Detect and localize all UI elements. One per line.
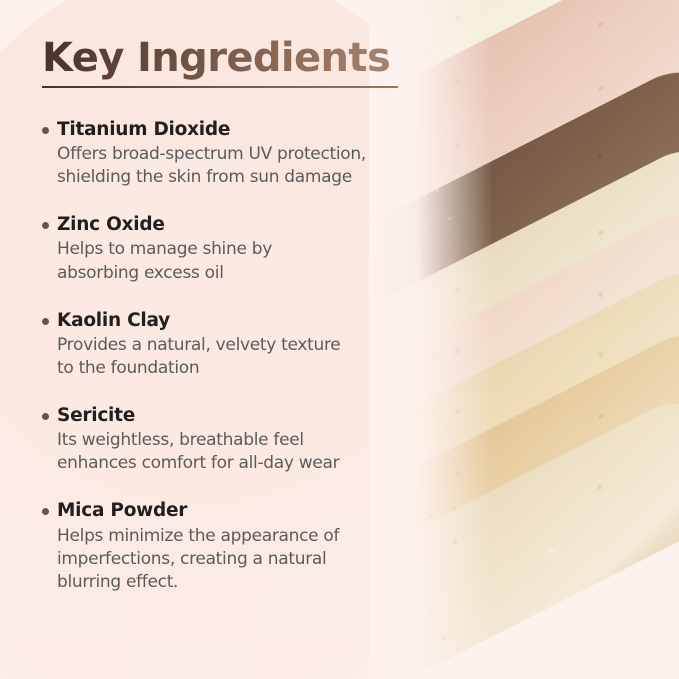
page-title: Key Ingredients [42, 36, 412, 81]
title-block: Key Ingredients [42, 36, 412, 88]
ingredient-name: Mica Powder [57, 499, 442, 522]
ingredient-name: Zinc Oxide [57, 213, 442, 236]
ingredient-name: Titanium Dioxide [57, 118, 442, 141]
ingredient-description: Its weightless, breathable feel enhances… [57, 429, 442, 475]
bullet-dot-icon [42, 413, 49, 420]
list-item: Kaolin Clay Provides a natural, velvety … [42, 309, 442, 380]
ingredient-name: Sericite [57, 404, 442, 427]
title-underline [42, 86, 398, 88]
infographic-page: Key Ingredients Titanium Dioxide Offers … [0, 0, 679, 679]
bullet-dot-icon [42, 127, 49, 134]
ingredient-description: Provides a natural, velvety texture to t… [57, 334, 442, 380]
ingredient-name: Kaolin Clay [57, 309, 442, 332]
list-item: Mica Powder Helps minimize the appearanc… [42, 499, 442, 593]
list-item: Titanium Dioxide Offers broad-spectrum U… [42, 118, 442, 189]
bullet-dot-icon [42, 318, 49, 325]
ingredient-list: Titanium Dioxide Offers broad-spectrum U… [42, 118, 442, 594]
bullet-dot-icon [42, 508, 49, 515]
ingredient-description: Helps to manage shine by absorbing exces… [57, 238, 442, 284]
bullet-dot-icon [42, 222, 49, 229]
list-item: Zinc Oxide Helps to manage shine by abso… [42, 213, 442, 284]
content-column: Key Ingredients Titanium Dioxide Offers … [0, 0, 470, 679]
ingredient-description: Helps minimize the appearance of imperfe… [57, 525, 442, 594]
list-item: Sericite Its weightless, breathable feel… [42, 404, 442, 475]
ingredient-description: Offers broad-spectrum UV protection, shi… [57, 143, 442, 189]
